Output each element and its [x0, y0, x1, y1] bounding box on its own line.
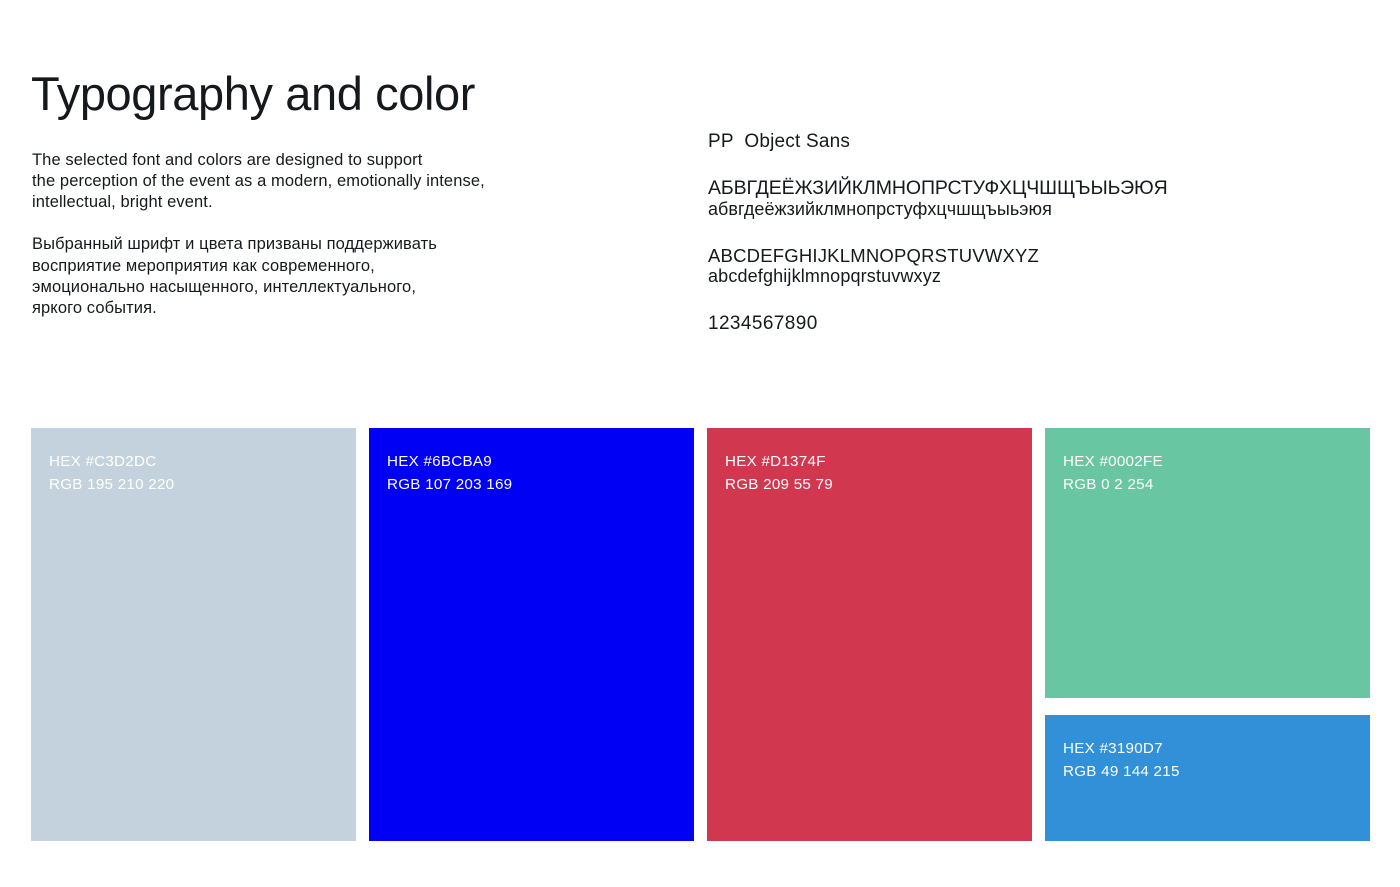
swatch-hex-label: HEX #0002FE [1063, 450, 1360, 473]
swatch-hex-label: HEX #3190D7 [1063, 737, 1360, 760]
swatch-red[interactable]: HEX #D1374F RGB 209 55 79 [707, 428, 1032, 841]
swatch-rgb-label: RGB 0 2 254 [1063, 473, 1360, 496]
swatch-column-3: HEX #D1374F RGB 209 55 79 [707, 428, 1032, 841]
swatch-label-group: HEX #6BCBA9 RGB 107 203 169 [387, 450, 684, 496]
swatch-green[interactable]: HEX #0002FE RGB 0 2 254 [1045, 428, 1370, 698]
latin-uppercase-line: ABCDEFGHIJKLMNOPQRSTUVWXYZ [708, 245, 1368, 266]
swatch-sky-blue[interactable]: HEX #3190D7 RGB 49 144 215 [1045, 715, 1370, 841]
color-swatch-grid: HEX #C3D2DC RGB 195 210 220 HEX #6BCBA9 … [31, 428, 1370, 841]
latin-specimen-group: ABCDEFGHIJKLMNOPQRSTUVWXYZ abcdefghijklm… [708, 245, 1368, 287]
latin-lowercase-line: abcdefghijklmnopqrstuvwxyz [708, 266, 1368, 287]
swatch-rgb-label: RGB 195 210 220 [49, 473, 346, 496]
swatch-hex-label: HEX #6BCBA9 [387, 450, 684, 473]
intro-column: The selected font and colors are designe… [32, 133, 632, 336]
swatch-column-4: HEX #0002FE RGB 0 2 254 HEX #3190D7 RGB … [1045, 428, 1370, 841]
swatch-rgb-label: RGB 107 203 169 [387, 473, 684, 496]
swatch-blue[interactable]: HEX #6BCBA9 RGB 107 203 169 [369, 428, 694, 841]
digits-line: 1234567890 [708, 313, 1368, 334]
cyrillic-lowercase-line: абвгдеёжзийклмнопрстуфхцчшщъыьэюя [708, 199, 1368, 220]
swatch-rgb-label: RGB 49 144 215 [1063, 760, 1360, 783]
intro-paragraph-russian: Выбранный шрифт и цвета призваны поддерж… [32, 234, 632, 319]
digits-specimen-group: 1234567890 [708, 313, 1368, 334]
swatch-column-2: HEX #6BCBA9 RGB 107 203 169 [369, 428, 694, 841]
swatch-hex-label: HEX #D1374F [725, 450, 1022, 473]
font-specimen-column: PP Object Sans АБВГДЕЁЖЗИЙКЛМНОПРСТУФХЦЧ… [708, 131, 1368, 334]
swatch-label-group: HEX #0002FE RGB 0 2 254 [1063, 450, 1360, 496]
font-name-label: PP Object Sans [708, 131, 1368, 153]
swatch-label-group: HEX #C3D2DC RGB 195 210 220 [49, 450, 346, 496]
swatch-label-group: HEX #D1374F RGB 209 55 79 [725, 450, 1022, 496]
swatch-rgb-label: RGB 209 55 79 [725, 473, 1022, 496]
swatch-hex-label: HEX #C3D2DC [49, 450, 346, 473]
swatch-column-1: HEX #C3D2DC RGB 195 210 220 [31, 428, 356, 841]
swatch-pale-blue-gray[interactable]: HEX #C3D2DC RGB 195 210 220 [31, 428, 356, 841]
cyrillic-uppercase-line: АБВГДЕЁЖЗИЙКЛМНОПРСТУФХЦЧШЩЪЫЬЭЮЯ [708, 178, 1368, 199]
cyrillic-specimen-group: АБВГДЕЁЖЗИЙКЛМНОПРСТУФХЦЧШЩЪЫЬЭЮЯ абвгде… [708, 178, 1368, 220]
intro-paragraph-english: The selected font and colors are designe… [32, 150, 632, 214]
swatch-label-group: HEX #3190D7 RGB 49 144 215 [1063, 737, 1360, 783]
page-title: Typography and color [31, 69, 475, 118]
